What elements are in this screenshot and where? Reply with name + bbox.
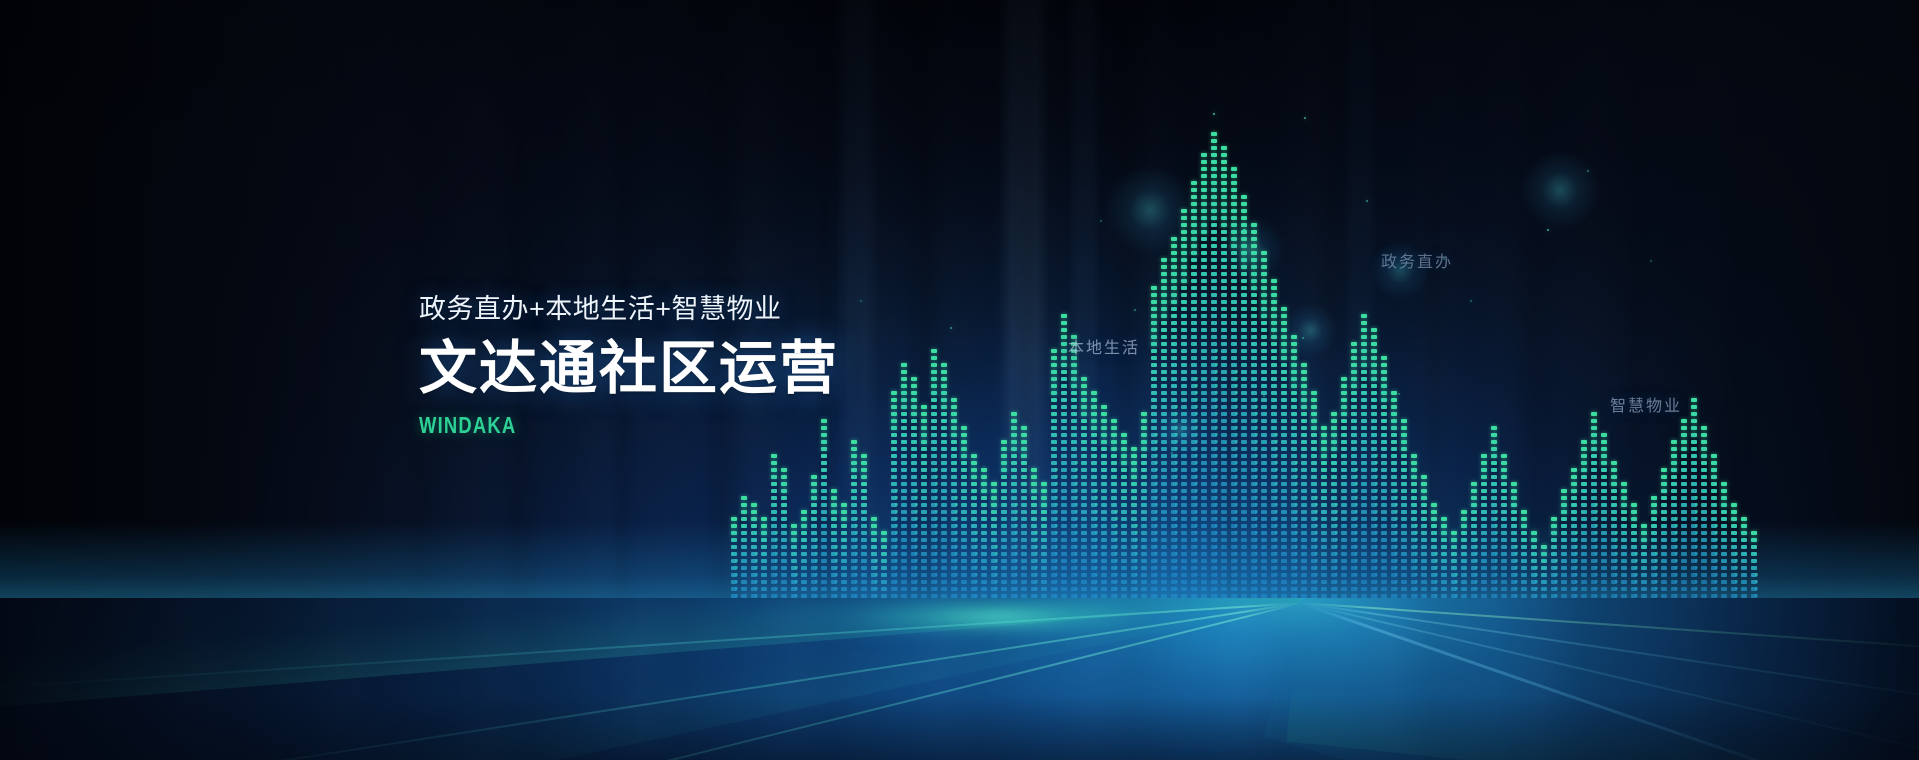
- city-column: [1341, 375, 1348, 615]
- banner-stage: 本地生活 政务直办 智慧物业 政务直办+本地生活+智慧物业 文达通社区运营 WI…: [0, 0, 1919, 760]
- city-column: [1621, 485, 1628, 615]
- city-column: [1481, 452, 1488, 615]
- city-column: [1301, 365, 1308, 615]
- horizon-glow: [728, 598, 1268, 640]
- banner-brand-name: WINDAKA: [419, 414, 835, 437]
- city-column: [821, 418, 828, 615]
- banner-subtitle: 政务直办+本地生活+智慧物业: [419, 296, 939, 323]
- city-column: [1141, 413, 1148, 615]
- city-column: [1321, 423, 1328, 615]
- city-column: [1601, 433, 1608, 615]
- city-column: [1201, 154, 1208, 615]
- city-column: [1261, 250, 1268, 615]
- city-column: [1021, 428, 1028, 615]
- city-column: [1161, 260, 1168, 615]
- city-column: [1101, 404, 1108, 615]
- city-column: [1661, 471, 1668, 615]
- city-column: [1061, 317, 1068, 615]
- city-column: [1041, 481, 1048, 615]
- skyline-label-government: 政务直办: [1381, 255, 1453, 271]
- city-column: [1701, 423, 1708, 615]
- city-column: [1721, 481, 1728, 615]
- city-column: [1421, 476, 1428, 615]
- headline-block: 政务直办+本地生活+智慧物业 文达通社区运营 WINDAKA: [419, 296, 939, 437]
- city-column: [1401, 418, 1408, 615]
- city-column: [1501, 457, 1508, 615]
- city-column: [1561, 490, 1568, 615]
- city-column: [781, 471, 788, 615]
- skyline-label-local-life: 本地生活: [1068, 341, 1140, 357]
- city-column: [1281, 308, 1288, 615]
- skyline-label-smart-property: 智慧物业: [1610, 399, 1682, 415]
- city-column: [1081, 375, 1088, 615]
- city-column: [741, 495, 748, 615]
- city-column: [1221, 149, 1228, 615]
- city-column: [1241, 193, 1248, 615]
- city-column: [1361, 313, 1368, 615]
- city-column: [1121, 433, 1128, 615]
- city-column: [941, 361, 948, 615]
- city-column: [961, 423, 968, 615]
- city-column: [1381, 356, 1388, 615]
- banner-main-title: 文达通社区运营: [419, 340, 939, 398]
- city-column: [1681, 418, 1688, 615]
- city-column: [981, 471, 988, 615]
- city-column: [1001, 442, 1008, 615]
- perspective-floor: [0, 598, 1919, 760]
- city-column: [861, 457, 868, 615]
- city-column: [1581, 437, 1588, 615]
- city-column: [1181, 212, 1188, 615]
